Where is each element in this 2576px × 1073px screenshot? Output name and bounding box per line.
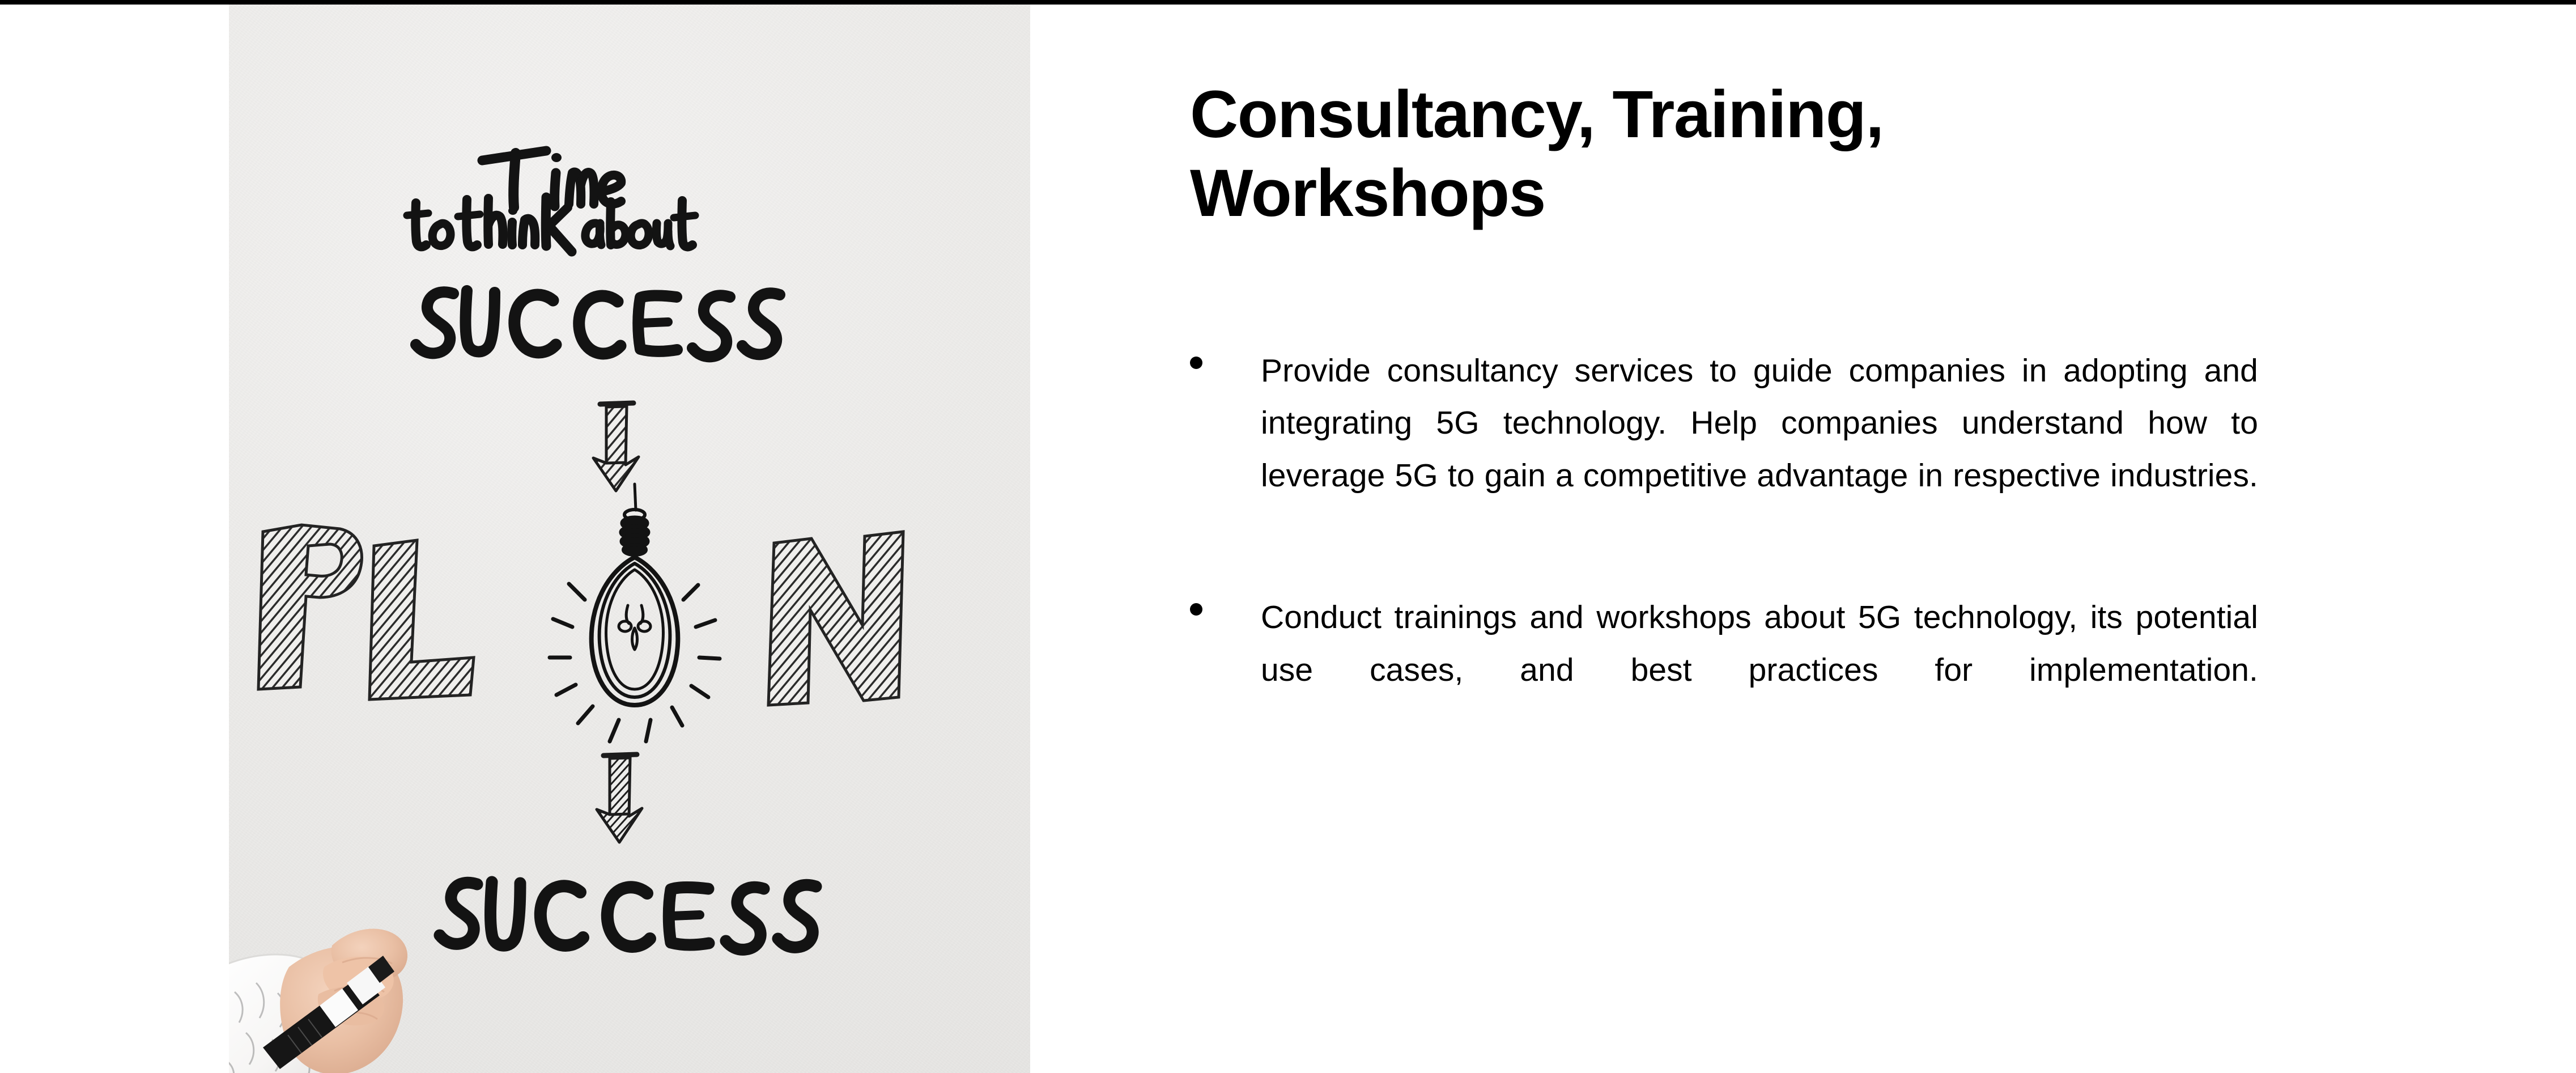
photo-artwork xyxy=(229,5,1030,1073)
lightbulb-rays xyxy=(550,584,720,741)
hatched-down-arrow-upper xyxy=(593,403,639,491)
hanging-lightbulb-icon xyxy=(550,484,720,741)
handwritten-success-bottom-text xyxy=(440,882,816,949)
handwritten-time-text xyxy=(482,151,621,207)
top-accent-bar xyxy=(0,0,2576,5)
page-title: Consultancy, Training, Workshops xyxy=(1190,75,2153,233)
bullet-dot-icon xyxy=(1190,603,1202,616)
whiteboard-sketch-photo xyxy=(229,5,1030,1073)
hatched-down-arrow-lower xyxy=(597,754,642,842)
handwritten-success-top-text xyxy=(416,291,780,357)
list-item-text: Provide consultancy services to guide co… xyxy=(1261,345,2258,554)
bullet-dot-icon xyxy=(1190,357,1202,369)
list-item-text: Conduct trainings and workshops about 5G… xyxy=(1261,591,2258,748)
hand-holding-marker xyxy=(229,928,407,1073)
list-item: Provide consultancy services to guide co… xyxy=(1190,345,2261,554)
sketched-plan-lettering xyxy=(258,525,903,705)
list-item: Conduct trainings and workshops about 5G… xyxy=(1190,591,2261,748)
bullet-list: Provide consultancy services to guide co… xyxy=(1190,312,2261,781)
